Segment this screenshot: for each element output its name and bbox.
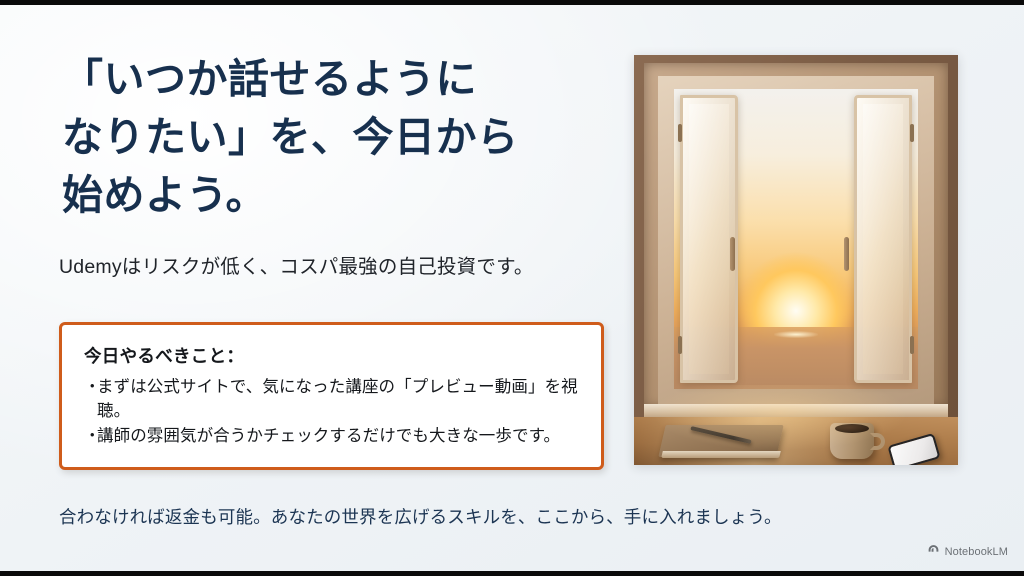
- photo-window-handle-left: [730, 237, 735, 271]
- photo-hinge-icon: [678, 336, 682, 354]
- photo-hinge-icon: [678, 124, 682, 142]
- notebooklm-spark-icon: [927, 543, 940, 561]
- notebooklm-watermark: NotebookLM: [927, 543, 1008, 561]
- photo-sun-glint: [774, 331, 818, 338]
- footnote-text: 合わなければ返金も可能。あなたの世界を広げるスキルを、ここから、手に入れましょう…: [59, 504, 859, 530]
- hero-photo-open-window: [634, 55, 958, 465]
- bullet-marker-icon: ・: [84, 424, 97, 448]
- list-item: ・ 講師の雰囲気が合うかチェックするだけでも大きな一歩です。: [84, 424, 581, 448]
- list-item-text: 講師の雰囲気が合うかチェックするだけでも大きな一歩です。: [97, 424, 581, 448]
- photo-warm-light-glow: [634, 385, 958, 465]
- photo-sash-glass: [863, 104, 903, 374]
- photo-sash-glass: [689, 104, 729, 374]
- letterbox-bar-top: [0, 0, 1024, 5]
- list-item-text: まずは公式サイトで、気になった講座の「プレビュー動画」を視聴。: [97, 375, 581, 423]
- bullet-marker-icon: ・: [84, 375, 97, 399]
- callout-content: 今日やるべきこと： ・ まずは公式サイトで、気になった講座の「プレビュー動画」を…: [62, 325, 601, 448]
- photo-window-sash-right: [854, 95, 912, 383]
- photo-hinge-icon: [910, 124, 914, 142]
- page-title: 「いつか話せるように なりたい」を、今日から 始めよう。: [62, 50, 618, 225]
- slide-root: 「いつか話せるように なりたい」を、今日から 始めよう。 Udemyはリスクが低…: [0, 0, 1024, 576]
- letterbox-bar-bottom: [0, 571, 1024, 576]
- list-item: ・ まずは公式サイトで、気になった講座の「プレビュー動画」を視聴。: [84, 375, 581, 423]
- subtitle-text: Udemyはリスクが低く、コスパ最強の自己投資です。: [59, 253, 615, 282]
- slide-canvas: 「いつか話せるように なりたい」を、今日から 始めよう。 Udemyはリスクが低…: [0, 5, 1024, 571]
- photo-window-handle-right: [844, 237, 849, 271]
- left-content-column: 「いつか話せるように なりたい」を、今日から 始めよう。 Udemyはリスクが低…: [58, 5, 618, 571]
- notebooklm-watermark-label: NotebookLM: [945, 546, 1008, 558]
- photo-hinge-icon: [910, 336, 914, 354]
- action-callout-box: 今日やるべきこと： ・ まずは公式サイトで、気になった講座の「プレビュー動画」を…: [59, 322, 604, 470]
- callout-heading: 今日やるべきこと：: [84, 343, 581, 368]
